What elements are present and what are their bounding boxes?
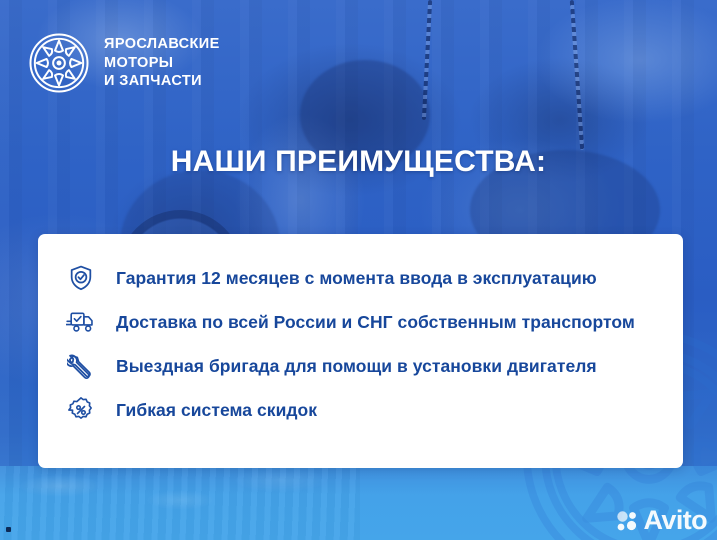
delivery-truck-check-icon xyxy=(66,307,96,337)
flower-wheel-emblem-icon xyxy=(28,32,90,94)
percent-badge-icon xyxy=(66,395,96,425)
shield-check-icon xyxy=(66,263,96,293)
bottom-strip-texture xyxy=(0,466,360,540)
avito-dots-icon xyxy=(615,509,639,533)
feature-row-discounts: Гибкая система скидок xyxy=(38,388,683,432)
feature-label: Гибкая система скидок xyxy=(116,400,317,421)
wrench-screwdriver-icon xyxy=(66,351,96,381)
brand-name: ЯРОСЛАВСКИЕ МОТОРЫ И ЗАПЧАСТИ xyxy=(104,35,220,92)
features-card: Гарантия 12 месяцев с момента ввода в эк… xyxy=(38,234,683,468)
image-artifact-dot xyxy=(6,527,11,532)
bottom-strip xyxy=(0,466,717,540)
avito-watermark: Avito xyxy=(615,507,708,534)
feature-label: Доставка по всей России и СНГ собственны… xyxy=(116,312,635,333)
feature-label: Гарантия 12 месяцев с момента ввода в эк… xyxy=(116,268,597,289)
promo-banner: ЯРОСЛАВСКИЕ МОТОРЫ И ЗАПЧАСТИ НАШИ ПРЕИМ… xyxy=(0,0,717,540)
feature-label: Выездная бригада для помощи в установки … xyxy=(116,356,597,377)
brand-logo: ЯРОСЛАВСКИЕ МОТОРЫ И ЗАПЧАСТИ xyxy=(28,32,220,94)
avito-label: Avito xyxy=(644,507,708,534)
feature-row-delivery: Доставка по всей России и СНГ собственны… xyxy=(38,300,683,344)
feature-row-warranty: Гарантия 12 месяцев с момента ввода в эк… xyxy=(38,256,683,300)
feature-row-field-crew: Выездная бригада для помощи в установки … xyxy=(38,344,683,388)
page-title: НАШИ ПРЕИМУЩЕСТВА: xyxy=(0,145,717,179)
